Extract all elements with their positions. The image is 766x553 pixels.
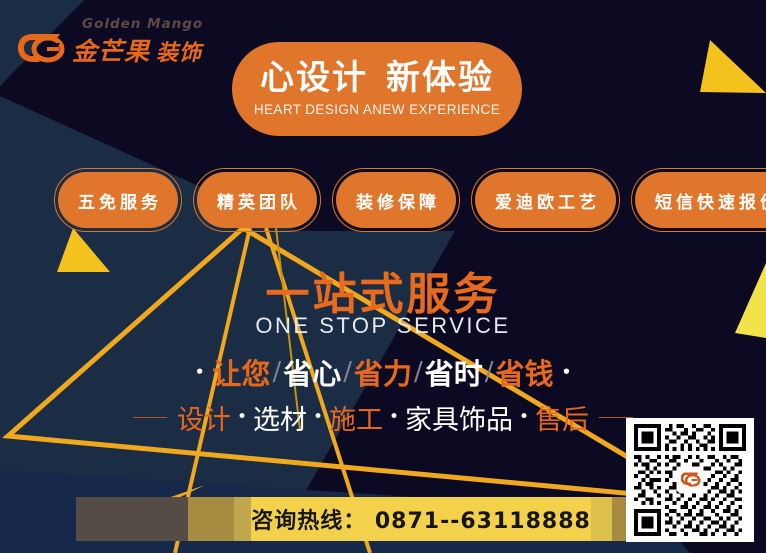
services-separator: • — [389, 409, 399, 426]
headline-english: HEART DESIGN ANEW EXPERIENCE — [254, 102, 500, 117]
benefits-separator: / — [343, 357, 352, 387]
hotline-bar-segment-dark-left — [76, 497, 188, 541]
benefit-item: 省钱 — [496, 351, 554, 393]
hotline-bar: 咨询热线： 0871--63118888 — [76, 497, 688, 541]
benefit-item: 省时 — [425, 351, 483, 393]
headline-cn-right: 新体验 — [386, 58, 494, 98]
brand-name-cn-main: 金芒果 — [72, 37, 150, 66]
brand-name-cn-sub: 装饰 — [156, 41, 202, 66]
feature-pill-4[interactable]: 爱迪欧工艺 — [471, 168, 620, 232]
qr-code-card[interactable] — [626, 418, 754, 542]
benefits-bullet-left: • — [195, 365, 205, 380]
service-item: 设计 — [177, 398, 231, 437]
brand-name-en: Golden Mango — [82, 16, 203, 32]
feature-label: 五免服务 — [74, 188, 162, 213]
headline-chinese: 心设计新体验 — [260, 61, 494, 97]
feature-pill-1[interactable]: 五免服务 — [54, 168, 182, 232]
golden-mango-monogram-icon — [16, 30, 72, 66]
feature-pill-row: 五免服务 精英团队 装修保障 爱迪欧工艺 短信快速报价 — [54, 168, 766, 232]
hotline-center-panel: 咨询热线： 0871--63118888 — [251, 497, 591, 541]
benefits-separator: / — [485, 357, 494, 387]
services-rule-left — [133, 417, 167, 419]
brand-name-cn: 金芒果装饰 — [72, 32, 202, 68]
feature-pill-3[interactable]: 装修保障 — [332, 168, 460, 232]
service-item: 施工 — [329, 398, 383, 437]
feature-label: 短信快速报价 — [651, 188, 766, 213]
feature-pill-5[interactable]: 短信快速报价 — [631, 168, 766, 232]
benefit-item: 省力 — [354, 351, 412, 393]
benefit-item: 省心 — [283, 351, 341, 393]
headline-banner: 心设计新体验 HEART DESIGN ANEW EXPERIENCE — [232, 42, 522, 136]
service-item: 选材 — [253, 398, 307, 437]
hotline-bar-segment-gold-right — [591, 497, 612, 541]
services-separator: • — [237, 409, 247, 426]
services-separator: • — [313, 409, 323, 426]
feature-pill-2[interactable]: 精英团队 — [193, 168, 321, 232]
feature-label: 装修保障 — [352, 188, 440, 213]
benefits-row: • 让您 / 省心 / 省力 / 省时 / 省钱 • — [0, 351, 766, 393]
feature-label: 精英团队 — [213, 188, 301, 213]
hotline-bar-segment-gold-left — [188, 497, 234, 541]
services-separator: • — [519, 409, 529, 426]
benefits-separator: / — [414, 357, 423, 387]
benefits-bullet-right: • — [562, 365, 572, 380]
main-slogan-english: ONE STOP SERVICE — [0, 313, 766, 339]
hotline-text: 咨询热线： 0871--63118888 — [251, 503, 591, 535]
headline-cn-left: 心设计 — [260, 58, 368, 98]
feature-label: 爱迪欧工艺 — [491, 188, 600, 213]
service-item: 家具饰品 — [405, 398, 513, 437]
benefit-item: 让您 — [212, 351, 270, 393]
hotline-bar-segment-gold-left2 — [234, 497, 252, 541]
poster-canvas: Golden Mango 金芒果装饰 心设计新体验 HEART DESIGN A… — [0, 0, 766, 553]
benefits-separator: / — [272, 357, 281, 387]
qr-code-icon — [632, 424, 748, 536]
brand-logo: Golden Mango 金芒果装饰 — [16, 16, 206, 72]
service-item: 售后 — [535, 398, 589, 437]
